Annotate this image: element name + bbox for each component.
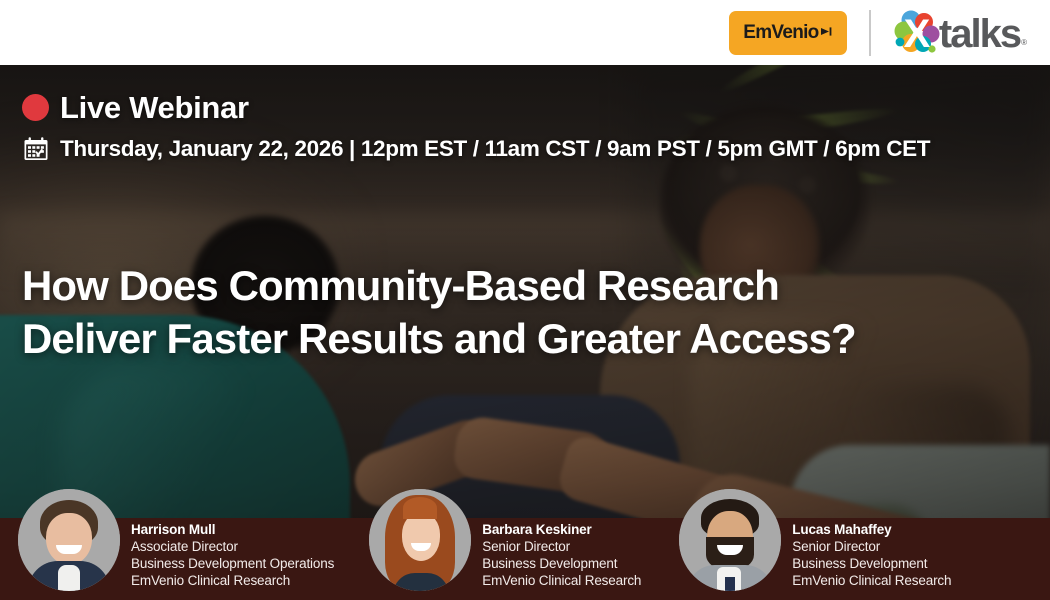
avatar-barbara-keskiner	[369, 489, 471, 591]
speaker-title: Associate Director	[131, 538, 334, 555]
xtalks-wordmark: talks	[939, 14, 1020, 54]
speaker-name: Barbara Keskiner	[482, 521, 641, 538]
speaker-title: Senior Director	[482, 538, 641, 555]
speaker-card-lucas-mahaffey: Lucas Mahaffey Senior Director Business …	[679, 475, 951, 600]
live-record-dot-icon	[22, 94, 49, 121]
emvenio-logo-text: EmVenio	[743, 23, 818, 42]
speaker-company: EmVenio Clinical Research	[792, 572, 951, 589]
logo-divider	[869, 10, 871, 56]
webinar-title-line-1: How Does Community-Based Research	[22, 260, 1032, 313]
speaker-card-barbara-keskiner: Barbara Keskiner Senior Director Busines…	[369, 475, 641, 600]
speaker-department: Business Development	[792, 555, 951, 572]
webinar-promo-banner: EmVenio	[0, 0, 1050, 600]
speaker-title: Senior Director	[792, 538, 951, 555]
live-webinar-label: Live Webinar	[60, 92, 249, 123]
avatar-harrison-mull	[18, 489, 120, 591]
svg-text:X: X	[904, 12, 931, 56]
speaker-details: Barbara Keskiner Senior Director Busines…	[482, 521, 641, 600]
avatar-lucas-mahaffey	[679, 489, 781, 591]
speaker-details: Lucas Mahaffey Senior Director Business …	[792, 521, 951, 600]
xtalks-logo[interactable]: X talks ®	[891, 9, 1026, 57]
speaker-card-harrison-mull: Harrison Mull Associate Director Busines…	[18, 475, 334, 600]
calendar-check-icon	[22, 135, 50, 163]
live-webinar-badge: Live Webinar	[22, 92, 249, 123]
webinar-title-line-2: Deliver Faster Results and Greater Acces…	[22, 313, 1032, 366]
xtalks-registered-icon: ®	[1021, 38, 1027, 47]
logo-bar: EmVenio	[0, 0, 1050, 65]
webinar-datetime-text: Thursday, January 22, 2026 | 12pm EST / …	[60, 138, 930, 161]
speaker-company: EmVenio Clinical Research	[131, 572, 334, 589]
speaker-details: Harrison Mull Associate Director Busines…	[131, 521, 334, 600]
speaker-company: EmVenio Clinical Research	[482, 572, 641, 589]
webinar-title: How Does Community-Based Research Delive…	[22, 260, 1032, 365]
speaker-name: Harrison Mull	[131, 521, 334, 538]
speaker-department: Business Development	[482, 555, 641, 572]
emvenio-logo[interactable]: EmVenio	[729, 11, 847, 55]
webinar-datetime: Thursday, January 22, 2026 | 12pm EST / …	[22, 135, 930, 163]
emvenio-arrow-icon	[820, 25, 833, 43]
speaker-name: Lucas Mahaffey	[792, 521, 951, 538]
speakers-list: Harrison Mull Associate Director Busines…	[0, 475, 1050, 600]
speaker-department: Business Development Operations	[131, 555, 334, 572]
